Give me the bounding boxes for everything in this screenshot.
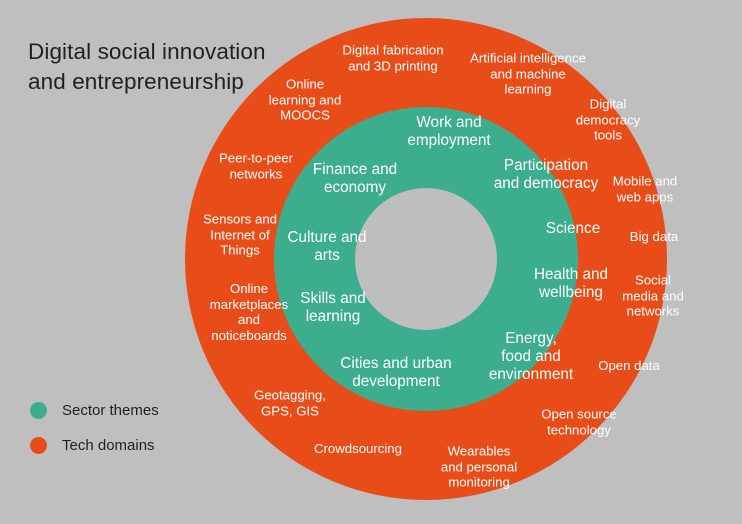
sector-theme-label-6[interactable]: Skills and learning: [300, 290, 365, 326]
sector-theme-label-2[interactable]: Science: [546, 220, 600, 238]
tech-domain-label-2[interactable]: Digital democracy tools: [576, 97, 641, 144]
sector-theme-label-3[interactable]: Health and wellbeing: [534, 266, 608, 302]
tech-domain-label-11[interactable]: Online marketplaces and noticeboards: [210, 281, 288, 343]
tech-domain-label-4[interactable]: Big data: [630, 229, 678, 245]
tech-domain-label-6[interactable]: Open data: [598, 358, 660, 374]
legend-item-tech-domains[interactable]: Tech domains: [30, 433, 159, 457]
legend-swatch-icon: [30, 437, 47, 454]
tech-domain-label-3[interactable]: Mobile and web apps: [613, 173, 678, 204]
sector-theme-label-5[interactable]: Cities and urban development: [340, 355, 451, 391]
tech-domain-label-8[interactable]: Wearables and personal monitoring: [441, 444, 517, 491]
legend-item-label: Tech domains: [62, 438, 155, 453]
sector-theme-label-7[interactable]: Culture and arts: [287, 229, 366, 265]
tech-domain-label-7[interactable]: Open source technology: [541, 406, 617, 437]
tech-domain-label-14[interactable]: Online learning and MOOCS: [269, 77, 342, 124]
sector-theme-label-8[interactable]: Finance and economy: [313, 161, 397, 197]
sector-theme-label-0[interactable]: Work and employment: [407, 114, 490, 150]
tech-domain-label-12[interactable]: Sensors and Internet of Things: [203, 212, 277, 259]
tech-domain-label-1[interactable]: Artificial intelligence and machine lear…: [470, 51, 586, 98]
legend: Sector themes Tech domains: [30, 398, 159, 468]
tech-domain-label-5[interactable]: Social media and networks: [622, 273, 684, 320]
sector-theme-label-4[interactable]: Energy, food and environment: [489, 330, 573, 384]
tech-domain-label-10[interactable]: Geotagging, GPS, GIS: [254, 387, 326, 418]
legend-item-sector-themes[interactable]: Sector themes: [30, 398, 159, 422]
infographic-canvas: Digital social innovation and entreprene…: [0, 0, 742, 524]
donut-hub: [355, 188, 497, 330]
tech-domain-label-13[interactable]: Peer-to-peer networks: [219, 150, 293, 181]
legend-swatch-icon: [30, 402, 47, 419]
tech-domain-label-0[interactable]: Digital fabrication and 3D printing: [342, 42, 443, 73]
sector-theme-label-1[interactable]: Participation and democracy: [494, 157, 599, 193]
legend-item-label: Sector themes: [62, 403, 159, 418]
tech-domain-label-9[interactable]: Crowdsourcing: [314, 441, 402, 457]
